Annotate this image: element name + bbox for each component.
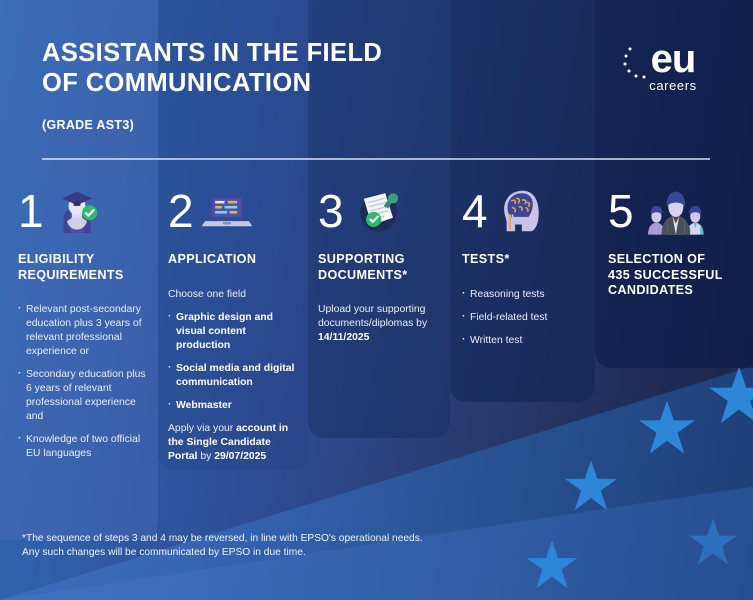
step-1: 1 ELIGIBILITY REQUIREMENTS Relevant post… [18,180,148,470]
step-2-deadline: 29/07/2025 [214,451,266,462]
step-4-bullets: Reasoning tests Field-related test Writt… [462,288,588,348]
step-2-title-line1: APPLICATION [168,252,256,266]
step-3-text-pre: Upload your supporting documents/diploma… [318,304,427,329]
step-2-title: APPLICATION [168,252,300,268]
list-item: Knowledge of two official EU languages [18,433,148,461]
page-header: ASSISTANTS IN THE FIELD OF COMMUNICATION… [42,38,382,132]
step-4-body: Reasoning tests Field-related test Writt… [462,288,588,348]
step-4-title-line1: TESTS* [462,252,510,266]
list-item: Written test [462,334,588,348]
step-3-deadline: 14/11/2025 [318,332,369,343]
step-3-title: SUPPORTING DOCUMENTS* [318,252,446,283]
footnote-line2: Any such changes will be communicated by… [22,546,552,560]
brain-head-icon [494,184,548,238]
step-2-outro-mid: by [197,451,214,462]
step-1-number: 1 [18,188,44,234]
step-3-title-line1: SUPPORTING [318,252,405,266]
step-3-head: 3 [318,180,446,242]
step-3-title-line2: DOCUMENTS* [318,268,408,282]
list-item: Relevant post-secondary education plus 3… [18,303,148,359]
step-2-intro: Choose one field [168,288,300,302]
step-4-number: 4 [462,188,488,234]
eu-star-3 [562,458,620,516]
step-1-title-line1: ELIGIBILITY [18,252,95,266]
graduate-icon [50,184,104,238]
step-2-outro: Apply via your account in the Single Can… [168,422,300,464]
step-4: 4 TESTS* Reasoning tests Field-related [462,180,588,357]
step-2-body: Choose one field Graphic design and visu… [168,288,300,464]
footnote-line1: *The sequence of steps 3 and 4 may be re… [22,532,552,546]
grade-label: (GRADE AST3) [42,118,382,132]
list-item: Reasoning tests [462,288,588,302]
step-2-head: 2 [168,180,300,242]
step-4-head: 4 [462,180,588,242]
step-5-number: 5 [608,188,634,234]
step-5-head: 5 [608,180,743,242]
step-3: 3 SUPPORTING DOCUMENTS* Upload your supp… [318,180,446,354]
step-3-body: Upload your supporting documents/diploma… [318,303,446,345]
infographic-canvas: ASSISTANTS IN THE FIELD OF COMMUNICATION… [0,0,753,600]
list-item: Webmaster [168,399,300,413]
footnote: *The sequence of steps 3 and 4 may be re… [22,532,552,560]
list-item: Graphic design and visual content produc… [168,311,300,353]
step-1-head: 1 [18,180,148,242]
step-1-bullets: Relevant post-secondary education plus 3… [18,303,148,461]
page-title: ASSISTANTS IN THE FIELD OF COMMUNICATION [42,38,382,98]
page-title-line2: OF COMMUNICATION [42,69,311,97]
step-5-title-line1: SELECTION OF [608,252,705,266]
step-1-body: Relevant post-secondary education plus 3… [18,303,148,461]
step-2-number: 2 [168,188,194,234]
people-group-icon [640,184,710,238]
page-title-line1: ASSISTANTS IN THE FIELD [42,39,382,67]
list-item: Field-related test [462,311,588,325]
list-item: Social media and digital communication [168,362,300,390]
document-check-icon [350,184,404,238]
header-divider [42,158,710,160]
step-2: 2 APPLICATION Choose one field Graphic d… [168,180,300,473]
eu-careers-logo: eu careers [631,40,715,94]
eu-star-5 [686,516,740,570]
step-3-text: Upload your supporting documents/diploma… [318,303,446,345]
step-2-bullets: Graphic design and visual content produc… [168,311,300,413]
step-5-title: SELECTION OF 435 SUCCESSFUL CANDIDATES [608,252,743,299]
step-5-title-line2: 435 SUCCESSFUL [608,268,723,282]
step-5-title-line3: CANDIDATES [608,283,693,297]
step-3-number: 3 [318,188,344,234]
laptop-icon [200,184,254,238]
step-4-title: TESTS* [462,252,588,268]
eu-star-2 [636,398,698,460]
step-1-title: ELIGIBILITY REQUIREMENTS [18,252,148,283]
step-1-title-line2: REQUIREMENTS [18,268,124,282]
list-item: Secondary education plus 6 years of rele… [18,368,148,424]
step-2-outro-pre: Apply via your [168,423,236,434]
logo-stars-icon [623,42,657,82]
step-5: 5 SELECTION OF 435 SUCCESSFUL CANDIDATES [608,180,743,299]
eu-star-1 [706,364,753,430]
